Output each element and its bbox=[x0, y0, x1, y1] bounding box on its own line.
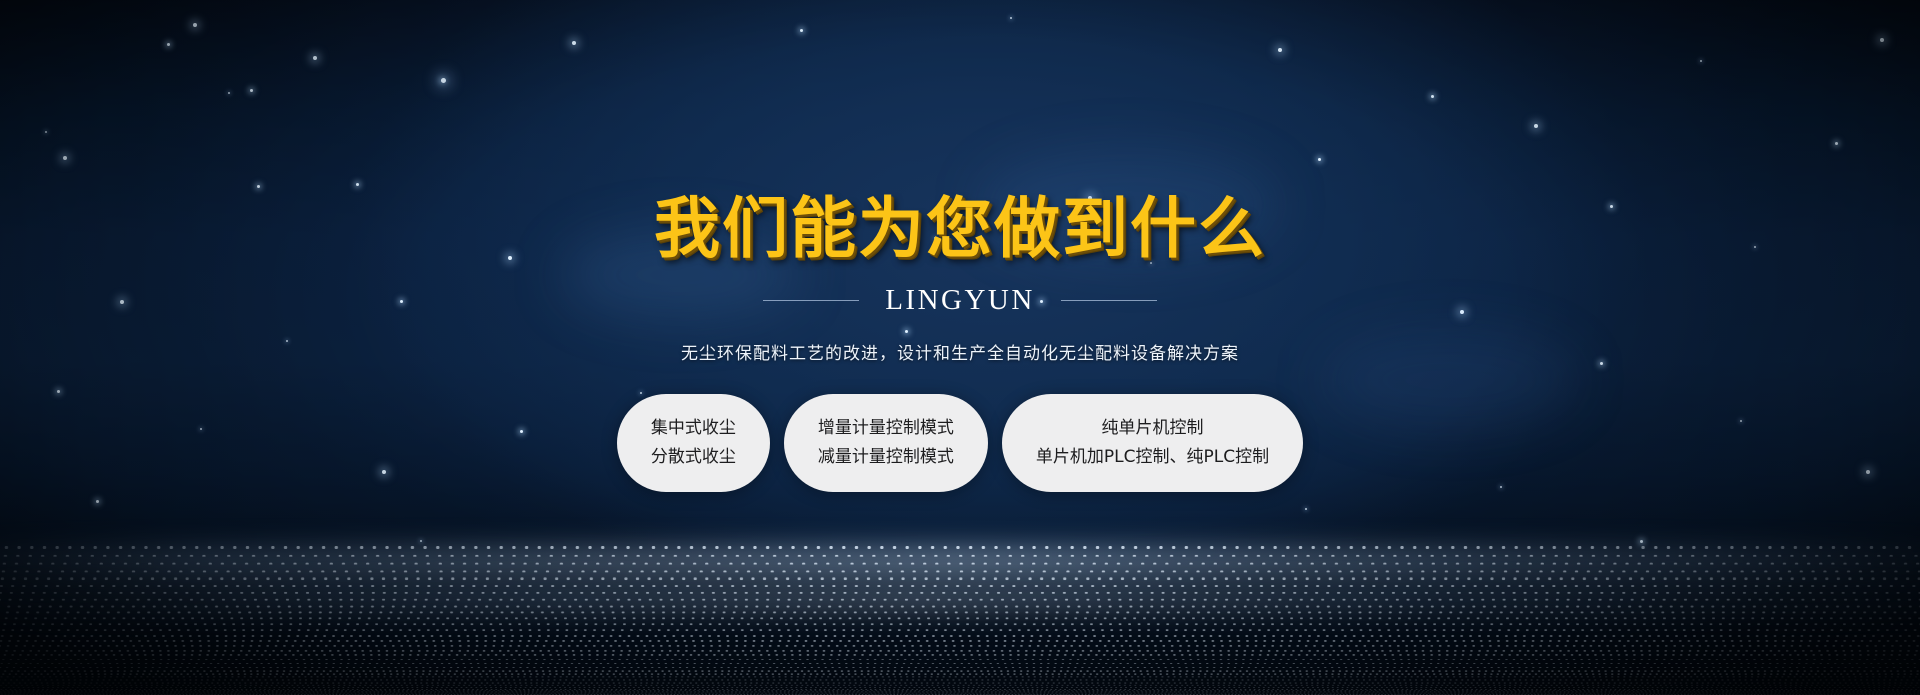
feature-card-list: 集中式收尘 分散式收尘 增量计量控制模式 减量计量控制模式 纯单片机控制 单片机… bbox=[0, 394, 1920, 492]
hero-content: 我们能为您做到什么 LINGYUN 无尘环保配料工艺的改进，设计和生产全自动化无… bbox=[0, 0, 1920, 492]
dot-row bbox=[0, 663, 1920, 665]
dot-row bbox=[0, 570, 1920, 573]
dot-row bbox=[0, 645, 1920, 647]
dot-row bbox=[0, 674, 1920, 676]
feature-card-line: 纯单片机控制 bbox=[1036, 419, 1269, 438]
dot-row bbox=[0, 618, 1920, 620]
dot-row bbox=[0, 682, 1920, 683]
star bbox=[96, 500, 99, 503]
brand-row: LINGYUN bbox=[0, 284, 1920, 317]
dot-row bbox=[0, 623, 1920, 625]
dot-row bbox=[0, 659, 1920, 661]
dot-row bbox=[0, 692, 1920, 693]
dot-row bbox=[0, 577, 1920, 580]
dot-row bbox=[0, 554, 1920, 557]
dot-row bbox=[0, 562, 1920, 565]
dot-grid bbox=[0, 545, 1920, 695]
feature-card-line: 增量计量控制模式 bbox=[818, 419, 954, 438]
dot-row bbox=[0, 611, 1920, 613]
feature-card-line: 减量计量控制模式 bbox=[818, 448, 954, 467]
dot-row bbox=[0, 635, 1920, 637]
dot-row bbox=[0, 598, 1920, 600]
dot-row bbox=[0, 690, 1920, 691]
divider-line-left bbox=[763, 300, 859, 301]
dot-row bbox=[0, 677, 1920, 678]
divider-line-right bbox=[1061, 300, 1157, 301]
dot-row bbox=[0, 685, 1920, 686]
dot-row bbox=[0, 592, 1920, 594]
dot-row bbox=[0, 689, 1920, 690]
feature-card-line: 分散式收尘 bbox=[651, 448, 736, 467]
dot-row bbox=[0, 654, 1920, 656]
hero-banner: 我们能为您做到什么 LINGYUN 无尘环保配料工艺的改进，设计和生产全自动化无… bbox=[0, 0, 1920, 695]
dot-row bbox=[0, 650, 1920, 652]
dot-row bbox=[0, 629, 1920, 631]
horizon-haze bbox=[0, 591, 1920, 609]
feature-card-line: 单片机加PLC控制、纯PLC控制 bbox=[1036, 448, 1269, 467]
dot-row bbox=[0, 640, 1920, 642]
dot-wave-landscape bbox=[0, 485, 1920, 695]
dot-row bbox=[0, 680, 1920, 681]
dot-row bbox=[0, 670, 1920, 672]
feature-card-line: 集中式收尘 bbox=[651, 419, 736, 438]
feature-card[interactable]: 集中式收尘 分散式收尘 bbox=[617, 394, 770, 492]
dot-row bbox=[0, 694, 1920, 695]
page-description: 无尘环保配料工艺的改进，设计和生产全自动化无尘配料设备解决方案 bbox=[0, 339, 1920, 364]
feature-card[interactable]: 纯单片机控制 单片机加PLC控制、纯PLC控制 bbox=[1002, 394, 1303, 492]
dot-row bbox=[0, 667, 1920, 669]
dot-row bbox=[0, 605, 1920, 607]
brand-name: LINGYUN bbox=[885, 284, 1035, 317]
star bbox=[420, 540, 422, 542]
horizon-haze bbox=[0, 549, 1920, 575]
feature-card[interactable]: 增量计量控制模式 减量计量控制模式 bbox=[784, 394, 988, 492]
dot-row bbox=[0, 585, 1920, 588]
star bbox=[1305, 508, 1307, 510]
dot-row bbox=[0, 693, 1920, 694]
dot-row bbox=[0, 687, 1920, 688]
dot-row bbox=[0, 546, 1920, 549]
page-title: 我们能为您做到什么 bbox=[0, 0, 1920, 262]
star bbox=[1640, 540, 1643, 543]
